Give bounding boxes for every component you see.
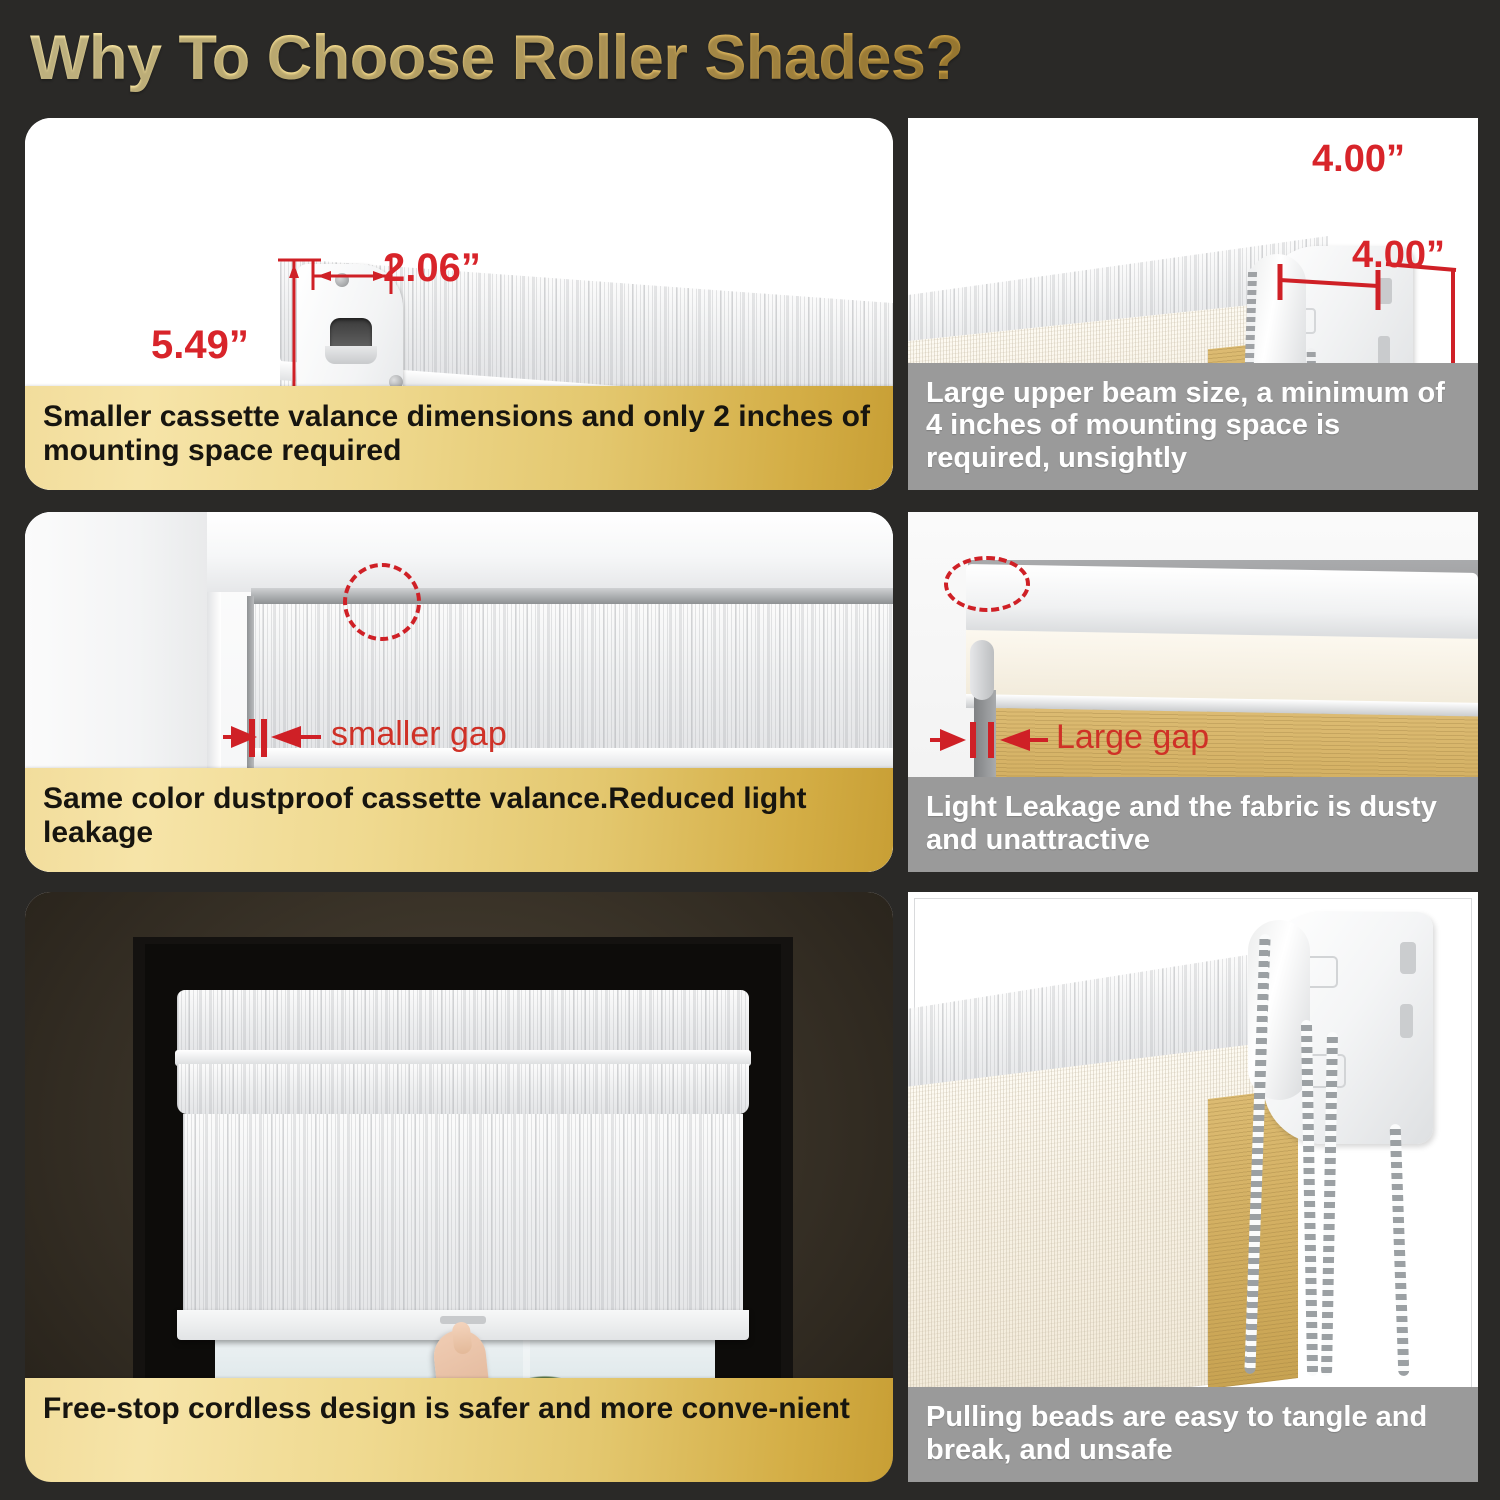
panel-good-cassette-dimensions: 2.06” 5.49” Smaller cassette valance dim… — [25, 118, 893, 490]
panel-bad-light-leakage: Large gap Light Leakage and the fabric i… — [908, 512, 1478, 872]
bracket-slot-1 — [1400, 942, 1416, 974]
cassette-head — [177, 990, 749, 1054]
highlight-circle — [343, 563, 421, 641]
smaller-gap-label: smaller gap — [331, 715, 507, 754]
cassette-head-lower — [177, 1064, 749, 1114]
window-head-casing — [207, 512, 893, 592]
caption-bad-large-upper-beam: Large upper beam size, a minimum of 4 in… — [908, 363, 1478, 490]
valance-face — [966, 630, 1478, 705]
comparison-grid: 2.06” 5.49” Smaller cassette valance dim… — [0, 0, 1500, 1500]
width-dimension-label: 2.06” — [383, 246, 481, 291]
caption-bad-pulling-beads: Pulling beads are easy to tangle and bre… — [908, 1387, 1478, 1482]
panel-bad-pulling-beads: Pulling beads are easy to tangle and bre… — [908, 892, 1478, 1482]
roller-end — [970, 640, 994, 700]
bracket-slot-2 — [1378, 336, 1390, 366]
highlight-circle — [944, 556, 1030, 612]
caption-good-cassette-dimensions: Smaller cassette valance dimensions and … — [25, 386, 893, 490]
panel-bad-large-upper-beam: 4.00” 4.00” Large upper beam size, a min… — [908, 118, 1478, 490]
panel-good-cordless-design: Free-stop cordless design is safer and m… — [25, 892, 893, 1482]
beam-width-label: 4.00” — [1312, 138, 1405, 181]
large-gap-label: Large gap — [1056, 718, 1209, 757]
panel-good-dustproof-valance: smaller gap Same color dustproof cassett… — [25, 512, 893, 872]
thumb — [451, 1321, 472, 1355]
screw-top-icon — [335, 273, 349, 287]
caption-bad-light-leakage: Light Leakage and the fabric is dusty an… — [908, 777, 1478, 872]
bracket-slot-lip — [325, 346, 377, 364]
beam-height-label: 4.00” — [1352, 234, 1445, 277]
height-dimension-label: 5.49” — [151, 323, 249, 368]
bracket-slot-1 — [1378, 278, 1392, 304]
bracket-slot-2 — [1400, 1004, 1413, 1038]
shade-fabric — [183, 1114, 743, 1322]
caption-good-dustproof-valance: Same color dustproof cassette valance.Re… — [25, 768, 893, 872]
caption-good-cordless-design: Free-stop cordless design is safer and m… — [25, 1378, 893, 1482]
